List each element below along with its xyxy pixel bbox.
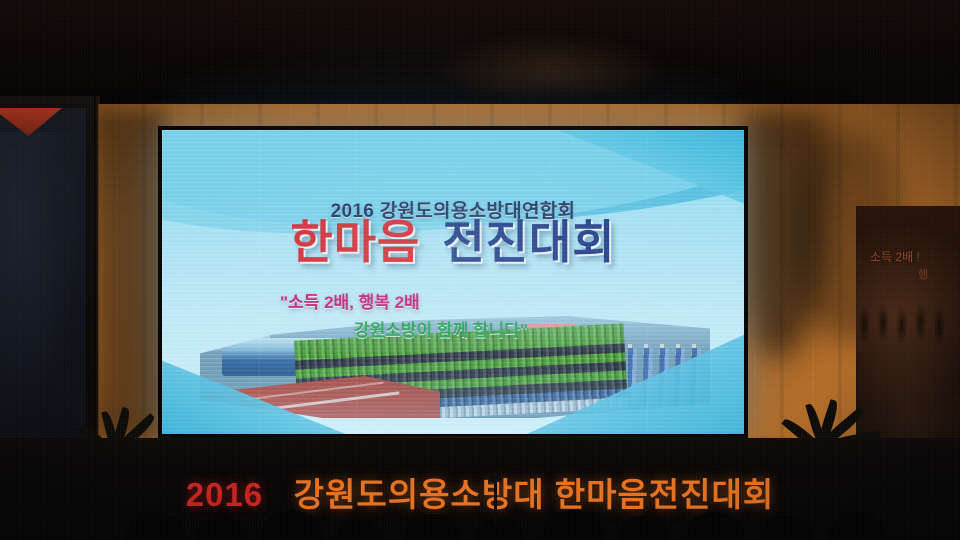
left-standing-banner: ted. xyxy=(0,108,86,438)
ceiling-glow xyxy=(430,34,670,94)
right-banner-subtext: 행 xyxy=(918,266,960,282)
led-display-frame: 2016 강원도의용소방대연합회 한마음전진대회 "소득 2배, 행복 2배 강… xyxy=(158,126,748,438)
curtain-shadow xyxy=(96,110,166,440)
banner-left-image xyxy=(0,132,86,438)
right-banner-people-photo xyxy=(856,302,960,348)
screen-title-blue: 전진대회 xyxy=(442,216,615,268)
microphone-icon xyxy=(489,473,501,482)
screen-slogan-line-1: "소득 2배, 행복 2배 xyxy=(280,288,420,313)
led-display-surface: 2016 강원도의용소방대연합회 한마음전진대회 "소득 2배, 행복 2배 강… xyxy=(162,130,744,434)
screen-main-title: 한마음전진대회 xyxy=(162,218,744,266)
microphone-stand xyxy=(494,478,497,522)
screen-slogan-line-2: 강원소방이 함께 합니다" xyxy=(354,316,528,341)
screen-title-red: 한마음 xyxy=(290,216,420,268)
event-hall-scene: ted. xyxy=(0,0,960,540)
right-banner-headline: 소득 2배 ! xyxy=(870,248,956,265)
audience-silhouettes xyxy=(0,494,960,540)
